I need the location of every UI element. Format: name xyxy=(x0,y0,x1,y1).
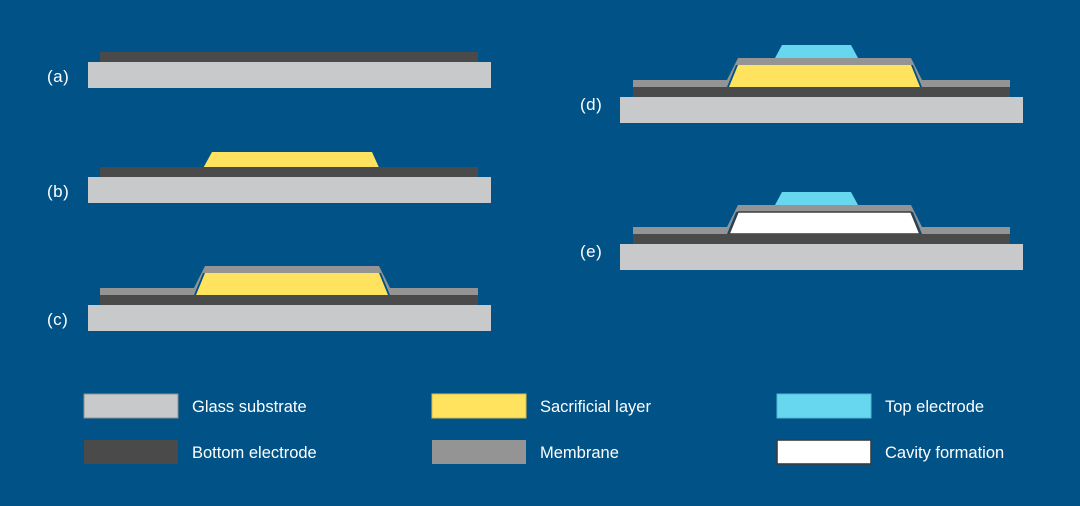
panel-d-glass-substrate xyxy=(620,97,1023,123)
legend-swatch-bottom-electrode xyxy=(84,440,178,464)
legend-swatch-glass-substrate xyxy=(84,394,178,418)
legend-swatch-top-electrode xyxy=(777,394,871,418)
legend-label-glass-substrate: Glass substrate xyxy=(192,398,307,416)
panel-c-sacrificial-layer xyxy=(196,273,388,295)
panel-d-top-electrode xyxy=(775,45,858,58)
panel-a-glass-substrate xyxy=(88,62,491,88)
panel-d-label: (d) xyxy=(580,95,602,114)
panel-e-label: (e) xyxy=(580,242,602,261)
legend-label-sacrificial-layer: Sacrificial layer xyxy=(540,398,651,416)
panel-d-sacrificial-layer xyxy=(729,65,920,87)
panel-c-bottom-electrode xyxy=(100,295,478,305)
legend-item-cavity-formation: Cavity formation xyxy=(777,440,1004,464)
legend-label-bottom-electrode: Bottom electrode xyxy=(192,444,317,462)
legend-item-bottom-electrode: Bottom electrode xyxy=(84,440,317,464)
panel-a: (a) xyxy=(47,52,491,88)
panel-d-bottom-electrode xyxy=(633,87,1010,97)
panel-c-label: (c) xyxy=(47,310,68,329)
legend-swatch-sacrificial-layer xyxy=(432,394,526,418)
process-flow-diagram: (a) (b) (c) (d) (e) xyxy=(0,0,1080,506)
legend-item-sacrificial-layer: Sacrificial layer xyxy=(432,394,651,418)
legend-swatch-membrane xyxy=(432,440,526,464)
panel-e-bottom-electrode xyxy=(633,234,1010,244)
panel-c: (c) xyxy=(47,266,491,331)
legend: Glass substrate Bottom electrode Sacrifi… xyxy=(84,394,1004,464)
legend-label-membrane: Membrane xyxy=(540,444,619,462)
legend-label-top-electrode: Top electrode xyxy=(885,398,984,416)
panel-c-membrane-field-right xyxy=(390,288,478,295)
panel-b: (b) xyxy=(47,152,491,203)
legend-item-membrane: Membrane xyxy=(432,440,619,464)
figure-canvas: (a) (b) (c) (d) (e) xyxy=(0,0,1080,506)
panel-e-glass-substrate xyxy=(620,244,1023,270)
panel-e-top-electrode xyxy=(775,192,858,205)
panel-a-bottom-electrode xyxy=(100,52,478,62)
legend-item-top-electrode: Top electrode xyxy=(777,394,984,418)
legend-swatch-cavity-formation xyxy=(777,440,871,464)
legend-item-glass-substrate: Glass substrate xyxy=(84,394,307,418)
panel-e-cavity-formation xyxy=(729,212,920,234)
panel-b-glass-substrate xyxy=(88,177,491,203)
panel-b-bottom-electrode xyxy=(100,167,478,177)
panel-b-label: (b) xyxy=(47,182,69,201)
panel-a-label: (a) xyxy=(47,67,69,86)
panel-c-glass-substrate xyxy=(88,305,491,331)
panel-e: (e) xyxy=(580,192,1023,270)
panel-d: (d) xyxy=(580,45,1023,123)
legend-label-cavity-formation: Cavity formation xyxy=(885,444,1004,462)
panel-c-membrane-field-left xyxy=(100,288,194,295)
